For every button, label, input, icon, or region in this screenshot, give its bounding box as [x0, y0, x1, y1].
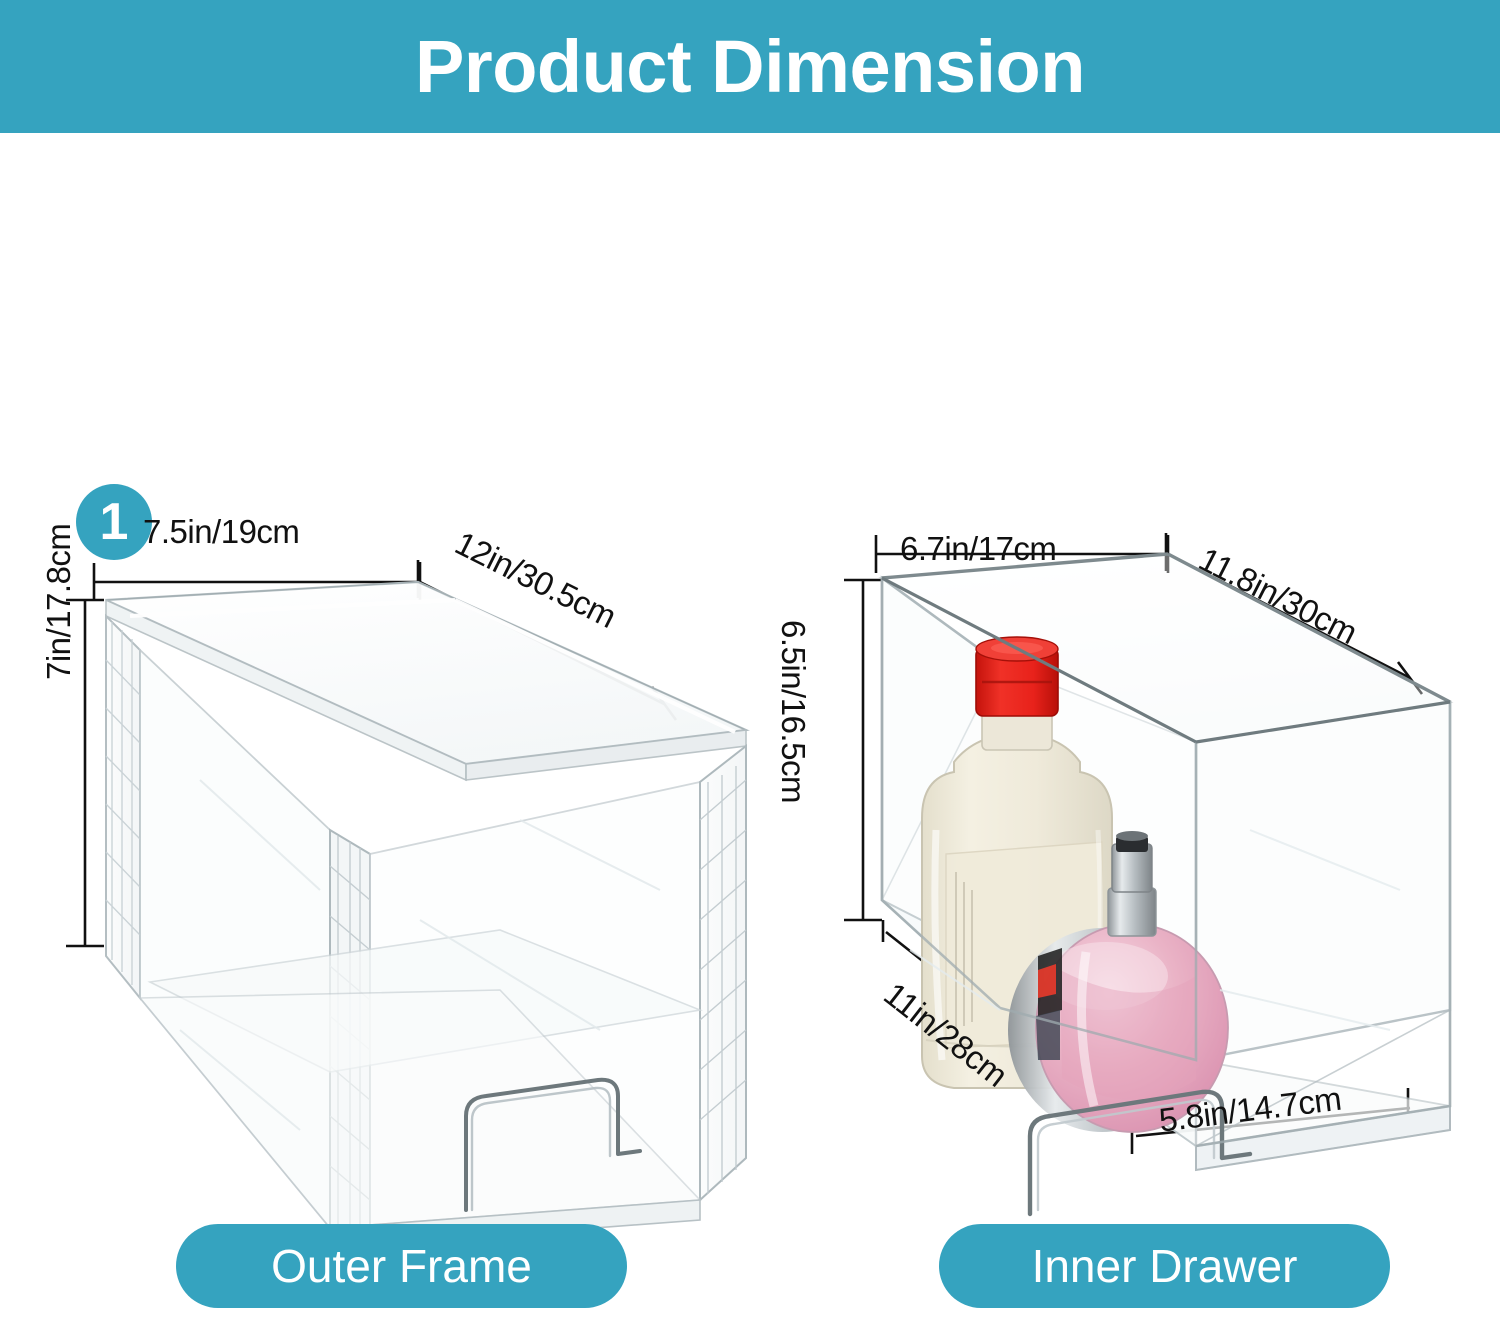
caption-inner-drawer: Inner Drawer	[939, 1224, 1390, 1308]
header-banner: Product Dimension	[0, 0, 1500, 133]
product-panel-inner-drawer: 2	[750, 130, 1500, 1324]
product-panel-outer-frame: 1	[0, 130, 750, 1324]
inner-drawer-illustration	[750, 130, 1500, 1324]
dimension-label-outer-height: 7in/17.8cm	[40, 524, 78, 680]
caption-outer-frame: Outer Frame	[176, 1224, 627, 1308]
step-badge-1: 1	[76, 484, 152, 560]
back-right-wall	[1196, 702, 1450, 1060]
dimension-line-height	[844, 580, 882, 920]
dimension-label-outer-width: 7.5in/19cm	[143, 513, 299, 551]
dimension-label-inner-height: 6.5in/16.5cm	[774, 620, 812, 803]
dimension-label-inner-width: 6.7in/17cm	[900, 530, 1056, 568]
page-title: Product Dimension	[415, 30, 1085, 104]
left-side-panel	[106, 616, 140, 998]
outer-frame-illustration	[0, 130, 750, 1324]
